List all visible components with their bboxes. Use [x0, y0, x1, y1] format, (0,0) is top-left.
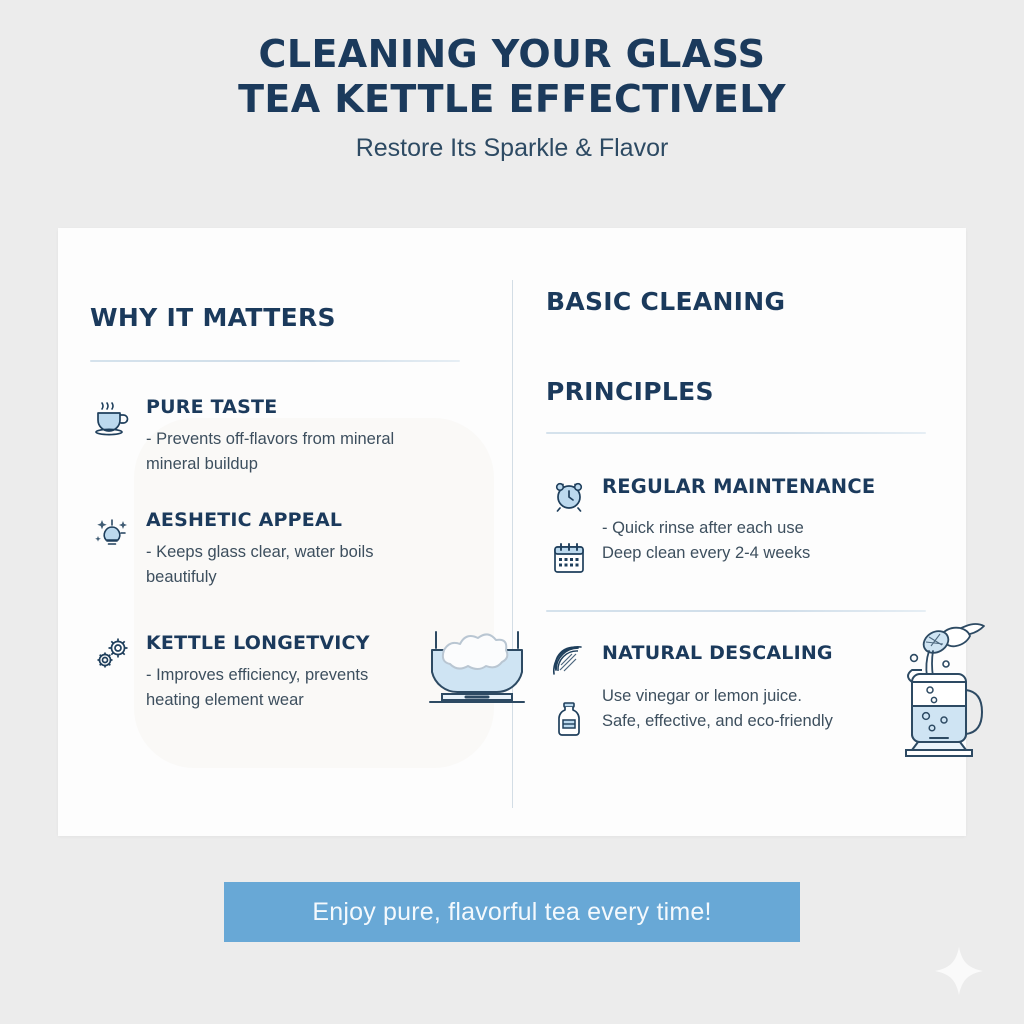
gears-icon — [90, 632, 136, 713]
soapy-basin-illustration — [420, 624, 534, 729]
list-item-body: REGULAR MAINTENANCE - Quick rinse after … — [592, 476, 946, 580]
list-item-body: PURE TASTE - Prevents off-flavors from m… — [136, 396, 490, 477]
right-heading-divider — [546, 432, 926, 434]
list-item: NATURAL DESCALING Use vinegar or lemon j… — [546, 642, 946, 744]
page-title-line-2: TEA KETTLE EFFECTIVELY — [0, 77, 1024, 122]
item-title: AESHETIC APPEAL — [146, 509, 490, 531]
left-column-heading: WHY IT MATTERS — [90, 228, 490, 334]
page-subtitle: Restore Its Sparkle & Flavor — [0, 134, 1024, 163]
right-column-heading-line-2: PRINCIPLES — [546, 318, 946, 408]
item-title: NATURAL DESCALING — [602, 642, 946, 664]
teacup-icon — [90, 396, 136, 477]
item-description: Use vinegar or lemon juice. Safe, effect… — [602, 684, 946, 734]
list-item: PURE TASTE - Prevents off-flavors from m… — [90, 396, 490, 477]
header: CLEANING YOUR GLASS TEA KETTLE EFFECTIVE… — [0, 32, 1024, 163]
right-section-divider — [546, 610, 926, 612]
bottle-icon — [552, 701, 586, 744]
item-title: REGULAR MAINTENANCE — [602, 476, 946, 498]
item-description: - Keeps glass clear, water boils beautif… — [146, 540, 490, 590]
descaling-icon-stack — [546, 642, 592, 744]
calendar-icon — [552, 541, 586, 580]
right-column: BASIC CLEANING PRINCIPLES — [546, 228, 946, 744]
item-description: - Prevents off-flavors from mineral mine… — [146, 427, 490, 477]
maintenance-icon-stack — [546, 476, 592, 580]
lightbulb-sparkle-icon — [90, 509, 136, 590]
footer-banner-text: Enjoy pure, flavorful tea every time! — [312, 898, 711, 927]
content-card: WHY IT MATTERS PURE TASTE - Prevents off… — [58, 228, 966, 836]
page-title-line-1: CLEANING YOUR GLASS — [0, 32, 1024, 77]
left-heading-divider — [90, 360, 460, 362]
kettle-lemon-pour-illustration — [896, 620, 1000, 775]
right-column-heading-line-1: BASIC CLEANING — [546, 228, 946, 318]
sparkle-decoration-icon — [932, 944, 986, 1003]
infographic-page: CLEANING YOUR GLASS TEA KETTLE EFFECTIVE… — [0, 0, 1024, 1024]
list-item-body: NATURAL DESCALING Use vinegar or lemon j… — [592, 642, 946, 744]
item-title: PURE TASTE — [146, 396, 490, 418]
footer-banner: Enjoy pure, flavorful tea every time! — [224, 882, 800, 942]
lemon-slice-icon — [551, 644, 587, 685]
list-item-body: AESHETIC APPEAL - Keeps glass clear, wat… — [136, 509, 490, 590]
alarm-clock-icon — [551, 478, 587, 519]
list-item: AESHETIC APPEAL - Keeps glass clear, wat… — [90, 509, 490, 590]
item-description: - Quick rinse after each use Deep clean … — [602, 516, 946, 566]
list-item: REGULAR MAINTENANCE - Quick rinse after … — [546, 476, 946, 580]
